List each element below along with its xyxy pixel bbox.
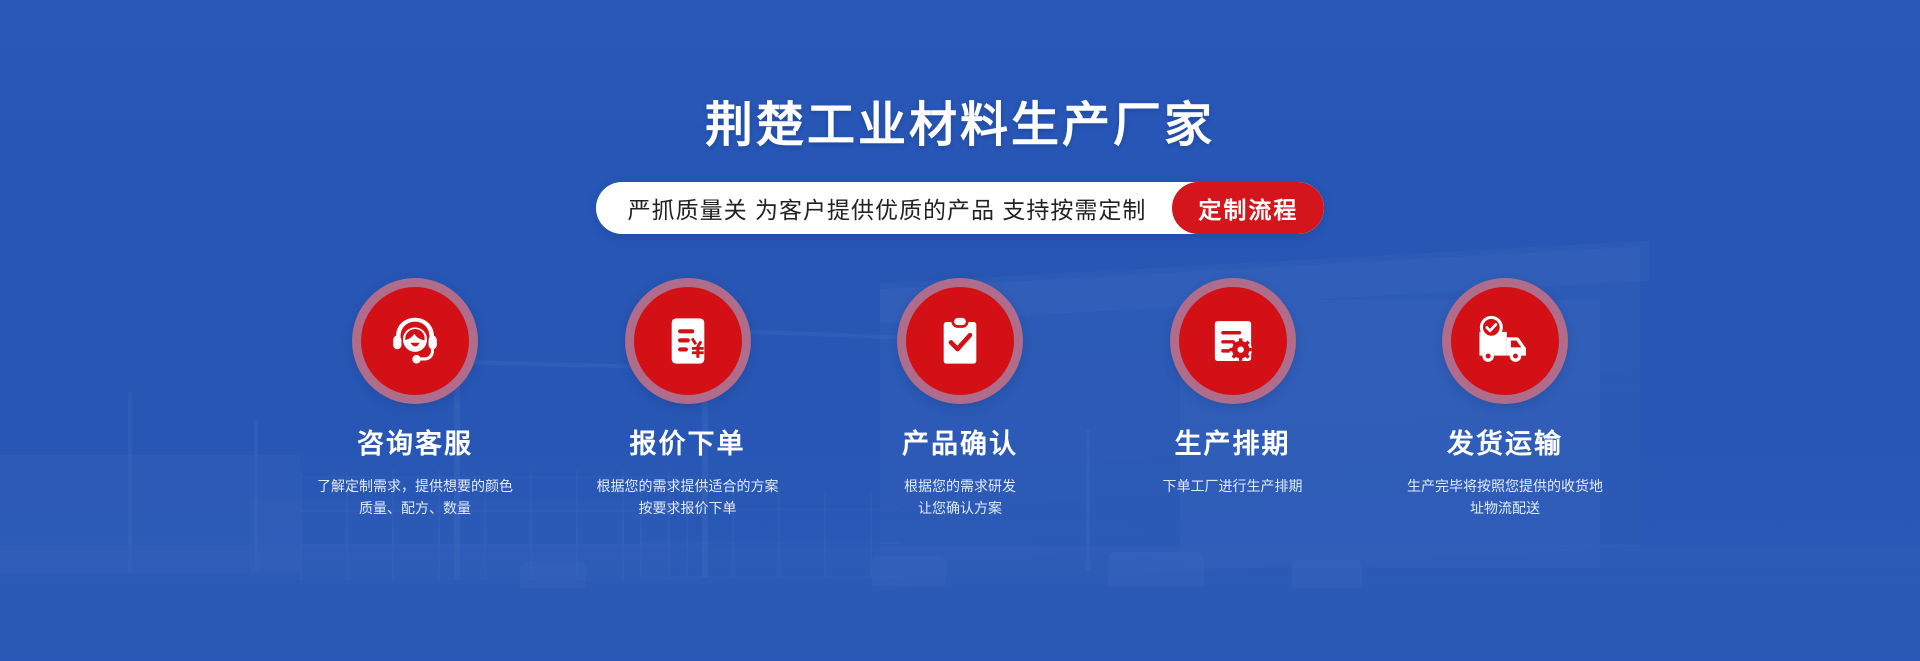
step-consult-support[interactable]: 咨询客服 了解定制需求，提供想要的颜色 质量、配方、数量 — [290, 278, 540, 520]
headset-support-icon — [384, 310, 446, 372]
clipboard-check-icon — [931, 312, 989, 370]
delivery-truck-check-icon — [1474, 310, 1536, 372]
subtitle-text: 严抓质量关 为客户提供优质的产品 支持按需定制 — [596, 182, 1173, 234]
step-icon-circle — [897, 278, 1023, 404]
step-icon-circle — [352, 278, 478, 404]
page-title: 荆楚工业材料生产厂家 — [705, 102, 1215, 150]
step-shipping-delivery[interactable]: 发货运输 生产完毕将按照您提供的收货地 址物流配送 — [1380, 278, 1630, 520]
step-description: 根据您的需求提供适合的方案 按要求报价下单 — [597, 475, 779, 520]
step-title: 咨询客服 — [357, 430, 473, 460]
document-gear-icon — [1204, 312, 1262, 370]
step-title: 生产排期 — [1175, 430, 1291, 460]
subtitle-pill: 严抓质量关 为客户提供优质的产品 支持按需定制 定制流程 — [596, 182, 1325, 234]
step-description: 根据您的需求研发 让您确认方案 — [904, 475, 1016, 520]
step-title: 发货运输 — [1447, 430, 1563, 460]
banner-content: 荆楚工业材料生产厂家 严抓质量关 为客户提供优质的产品 支持按需定制 定制流程 — [0, 0, 1920, 661]
step-title: 报价下单 — [630, 430, 746, 460]
step-icon-circle — [1442, 278, 1568, 404]
step-title: 产品确认 — [902, 430, 1018, 460]
promo-banner: 荆楚工业材料生产厂家 严抓质量关 为客户提供优质的产品 支持按需定制 定制流程 — [0, 0, 1920, 661]
custom-process-button[interactable]: 定制流程 — [1172, 182, 1324, 234]
step-description: 下单工厂进行生产排期 — [1163, 475, 1303, 498]
step-description: 了解定制需求，提供想要的颜色 质量、配方、数量 — [317, 475, 513, 520]
step-icon-circle — [625, 278, 751, 404]
step-quote-order[interactable]: 报价下单 根据您的需求提供适合的方案 按要求报价下单 — [563, 278, 813, 520]
step-product-confirm[interactable]: 产品确认 根据您的需求研发 让您确认方案 — [835, 278, 1085, 520]
step-production-schedule[interactable]: 生产排期 下单工厂进行生产排期 — [1108, 278, 1358, 497]
process-steps: 咨询客服 了解定制需求，提供想要的颜色 质量、配方、数量 — [290, 278, 1630, 520]
step-description: 生产完毕将按照您提供的收货地 址物流配送 — [1407, 475, 1603, 520]
step-icon-circle — [1170, 278, 1296, 404]
quote-invoice-yen-icon — [659, 312, 717, 370]
